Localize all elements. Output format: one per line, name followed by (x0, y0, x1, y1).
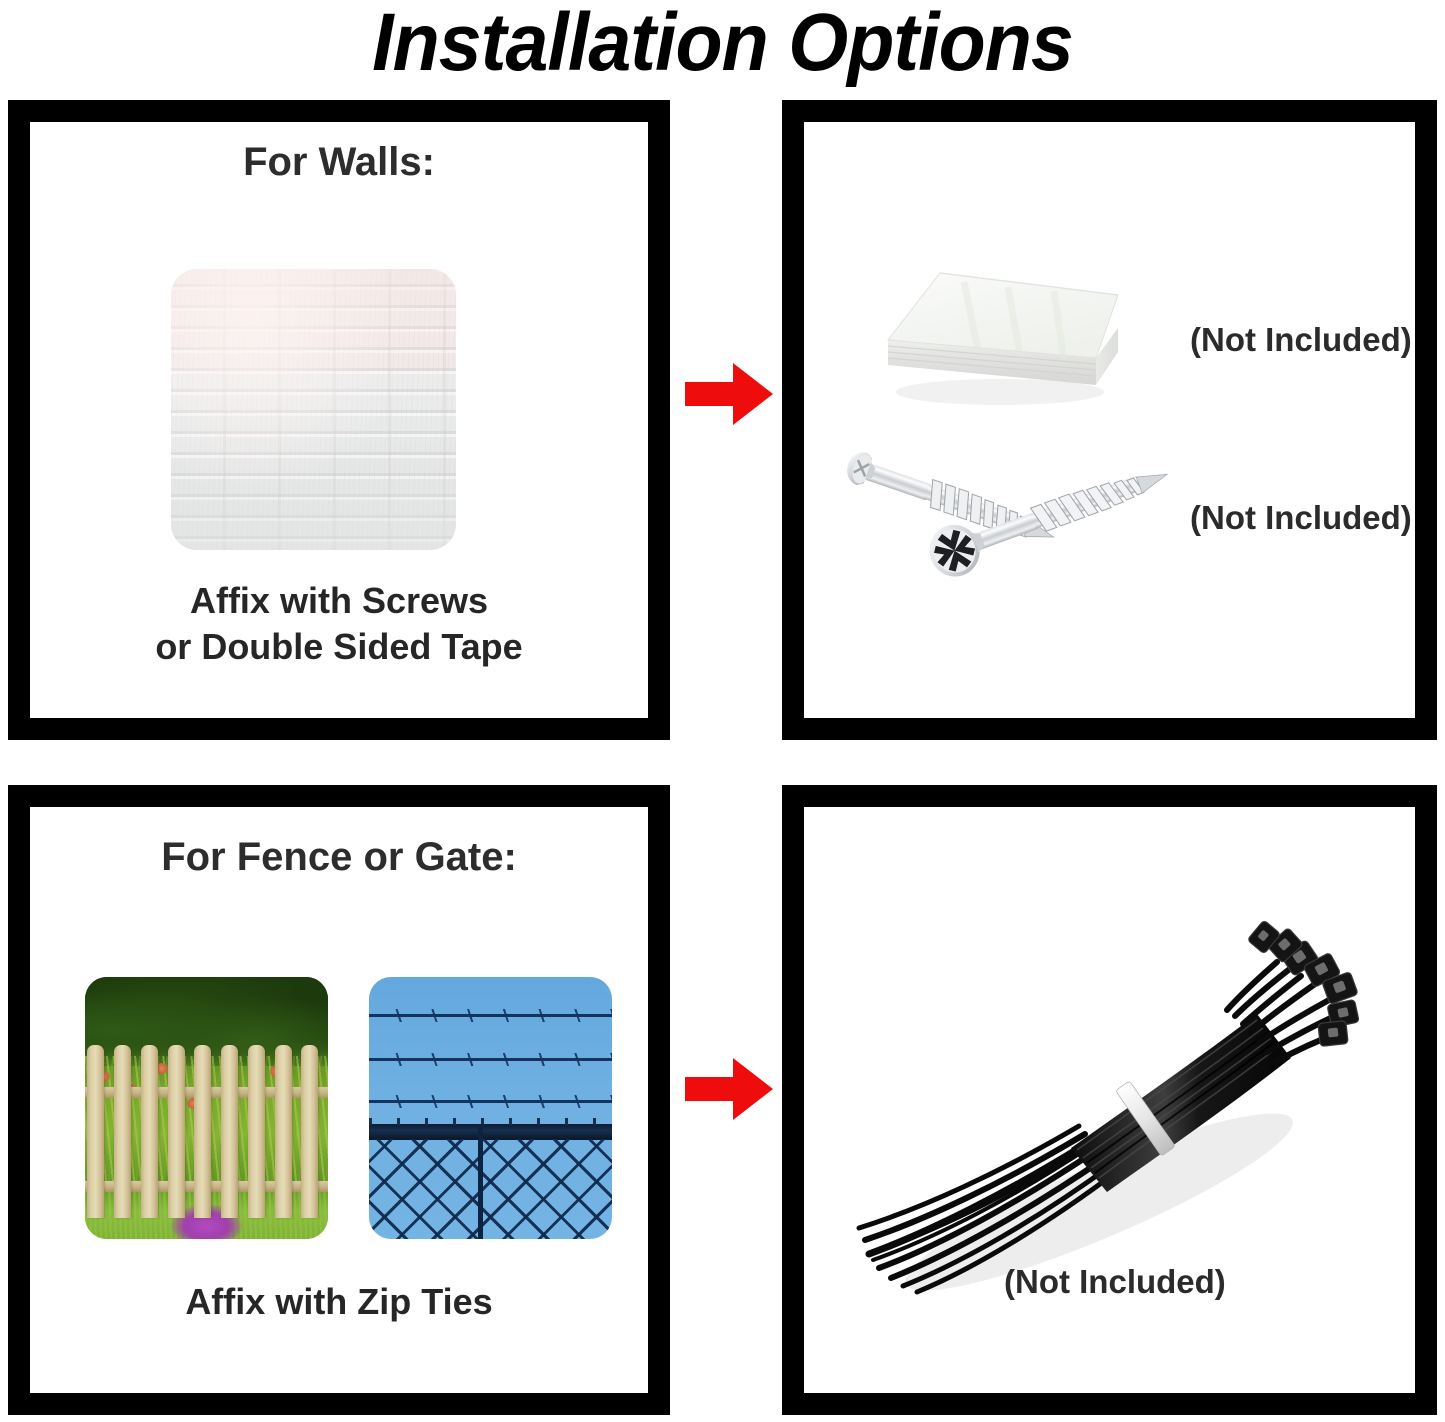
brick-wall-swatch (171, 269, 456, 550)
tape-not-included-label: (Not Included) (1190, 320, 1412, 360)
panel-for-fence-content: For Fence or Gate: (30, 807, 648, 1393)
black-zip-tie-bundle-icon (839, 902, 1359, 1302)
barbed-wire-strand (369, 1100, 612, 1103)
screws-not-included-label: (Not Included) (1190, 498, 1412, 538)
fence-picket (221, 1045, 238, 1218)
right-arrow-icon (683, 1055, 775, 1123)
for-fence-heading: For Fence or Gate: (30, 833, 648, 881)
barbed-wire-strand (369, 1058, 612, 1061)
for-walls-caption-line1: Affix with Screws (30, 578, 648, 624)
right-arrow-icon (683, 360, 775, 428)
phillips-wood-screws-icon (822, 442, 1182, 632)
fence-picket (301, 1045, 318, 1218)
for-fence-caption: Affix with Zip Ties (30, 1279, 648, 1325)
chainlink-mesh-layer (369, 1139, 612, 1239)
barbed-wire-strand (369, 1014, 612, 1017)
zipties-not-included-label: (Not Included) (1004, 1262, 1226, 1302)
fence-picket (87, 1045, 104, 1218)
fence-picket (194, 1045, 211, 1218)
fence-picket (275, 1045, 292, 1218)
double-sided-tape-stack-icon (868, 240, 1124, 410)
for-walls-caption-line2: or Double Sided Tape (30, 624, 648, 670)
page-title: Installation Options (43, 0, 1401, 90)
panel-for-walls-content: For Walls: Affix with Screws or Double S… (30, 122, 648, 718)
chainlink-top-rail (369, 1124, 612, 1140)
panel-fence-hardware-content: (Not Included) (804, 807, 1415, 1393)
panel-for-fence-or-gate: For Fence or Gate: (8, 785, 670, 1415)
chainlink-post (478, 1124, 483, 1239)
fence-picket (114, 1045, 131, 1218)
panel-fence-hardware: (Not Included) (782, 785, 1437, 1415)
panel-wall-hardware: (Not Included) (782, 100, 1437, 740)
chain-link-barbed-wire-fence-photo (369, 977, 612, 1239)
panel-for-walls: For Walls: Affix with Screws or Double S… (8, 100, 670, 740)
wooden-picket-fence-photo (85, 977, 328, 1239)
panel-wall-hardware-content: (Not Included) (804, 122, 1415, 718)
brick-shading-layer (171, 269, 456, 550)
for-walls-heading: For Walls: (30, 138, 648, 186)
fence-picket (168, 1045, 185, 1218)
fence-picket (141, 1045, 158, 1218)
fence-picket (248, 1045, 265, 1218)
